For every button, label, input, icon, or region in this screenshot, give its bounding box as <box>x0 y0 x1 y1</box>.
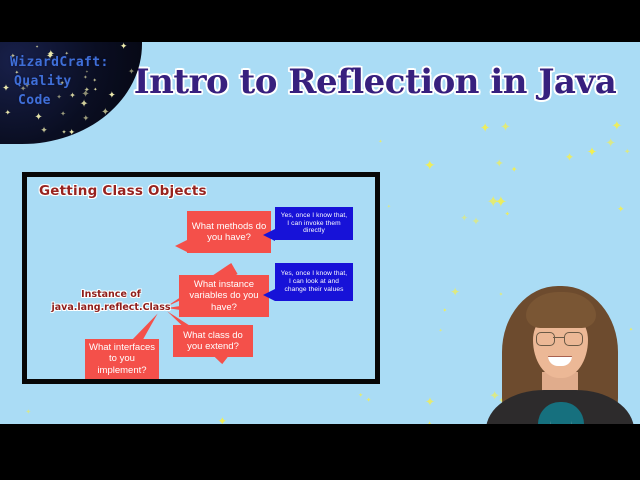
star-icon: ✦ <box>60 110 66 117</box>
star-icon: ✦ <box>141 105 142 110</box>
star-icon: ✦ <box>25 410 31 417</box>
star-icon: ✦ <box>100 122 106 130</box>
star-icon: ✦ <box>450 287 460 299</box>
star-icon: ✦ <box>80 133 89 143</box>
star-icon: ✦ <box>82 114 89 122</box>
presenter-hair-front <box>526 292 596 328</box>
answer-bubble-invoke: Yes, once I know that, I can invoke them… <box>275 207 353 240</box>
star-icon: ✦ <box>40 126 47 135</box>
answer-bubble-values: Yes, once I know that, I can look at and… <box>275 263 353 301</box>
center-node-line-1: Instance of <box>43 289 179 302</box>
star-icon: ✦ <box>617 205 625 214</box>
diagram-panel: Getting Class Objects What methods do yo… <box>22 172 380 384</box>
star-icon: ✦ <box>90 133 98 143</box>
logo-line-3: Code <box>10 92 130 111</box>
star-icon: ✦ <box>480 122 490 134</box>
answer-text-values: Yes, once I know that, I can look at and… <box>279 270 349 293</box>
question-bubble-extends: What class do you extend? <box>173 325 253 357</box>
star-icon: ✦ <box>494 195 507 211</box>
star-icon: ✦ <box>378 140 382 145</box>
star-icon: ✦ <box>68 128 75 137</box>
star-icon: ✦ <box>442 309 447 315</box>
question-text-methods: What methods do you have? <box>191 221 267 243</box>
logo-text: WizardCraft: Quality Code <box>10 54 130 111</box>
star-icon: ✦ <box>387 205 391 210</box>
question-bubble-interfaces: What interfaces to you implement? <box>85 339 159 379</box>
video-player-stage: ✦✦✦✦✦✦✦✦✦✦✦✦✦✦✦✦✦✦✦✦✦✦✦✦✦✦✦ Intro to Ref… <box>0 0 640 480</box>
star-icon: ✦ <box>217 417 227 424</box>
star-icon: ✦ <box>499 293 504 299</box>
presenter-glasses-right-lens <box>564 332 583 346</box>
diagram-heading: Getting Class Objects <box>39 183 207 199</box>
center-node-label: Instance of java.lang.reflect.Class <box>43 289 179 315</box>
star-icon: ✦ <box>34 113 43 123</box>
star-icon: ✦ <box>111 133 116 139</box>
question-bubble-methods: What methods do you have? <box>187 211 271 253</box>
star-icon: ✦ <box>511 166 518 174</box>
question-text-variables: What instance variables do you have? <box>183 279 265 313</box>
answer-tail-invoke <box>263 229 275 241</box>
star-icon: ✦ <box>358 394 363 400</box>
star-icon: ✦ <box>629 328 633 333</box>
star-icon: ✦ <box>125 132 130 138</box>
question-text-extends: What class do you extend? <box>177 330 249 352</box>
star-icon: ✦ <box>366 398 371 404</box>
logo-line-1: WizardCraft: <box>10 54 130 73</box>
star-icon: ✦ <box>587 146 597 158</box>
star-icon: ✦ <box>486 195 499 211</box>
star-icon: ✦ <box>460 213 468 222</box>
star-icon: ✦ <box>439 329 443 334</box>
presenter-webcam-overlay: ✦✦✦✦✦✦✦✦✦✦✦✦✦✦✦✦✦✦✦✦✦✦✦✦✦✦ <box>480 280 640 424</box>
star-icon: ✦ <box>57 141 63 144</box>
star-icon: ✦ <box>565 153 575 164</box>
center-node-line-2: java.lang.reflect.Class <box>43 302 179 315</box>
question-tail-methods <box>175 239 189 253</box>
answer-text-invoke: Yes, once I know that, I can invoke them… <box>279 212 349 235</box>
question-text-interfaces: What interfaces to you implement? <box>89 342 155 376</box>
presenter-glasses-bridge <box>553 337 564 338</box>
star-icon: ✦ <box>471 217 480 228</box>
star-icon: ✦ <box>425 396 435 408</box>
star-icon: ✦ <box>424 159 436 173</box>
presenter-necklace <box>550 408 572 424</box>
star-icon: ✦ <box>62 130 67 136</box>
star-icon: ✦ <box>35 45 38 49</box>
star-icon: ✦ <box>505 212 511 219</box>
answer-tail-values <box>263 289 275 301</box>
star-icon: ✦ <box>605 137 616 150</box>
star-icon: ✦ <box>120 42 128 51</box>
star-icon: ✦ <box>495 159 504 170</box>
letterbox-top <box>0 0 640 42</box>
question-bubble-variables: What instance variables do you have? <box>179 275 269 317</box>
star-icon: ✦ <box>118 115 123 121</box>
star-icon: ✦ <box>127 113 131 118</box>
logo-line-2: Quality <box>10 73 130 92</box>
letterbox-bottom <box>0 424 640 480</box>
star-icon: ✦ <box>624 148 630 156</box>
star-icon: ✦ <box>611 119 622 132</box>
star-icon: ✦ <box>2 84 10 93</box>
presenter-glasses-left-lens <box>536 332 555 346</box>
channel-logo: ✦✦✦✦✦✦✦✦✦✦✦✦✦✦✦✦✦✦✦✦✦✦✦✦✦✦✦✦✦✦✦✦✦✦✦✦✦✦✦✦… <box>0 42 142 144</box>
page-title: Intro to Reflection in Java <box>130 62 620 102</box>
star-icon: ✦ <box>500 121 511 134</box>
